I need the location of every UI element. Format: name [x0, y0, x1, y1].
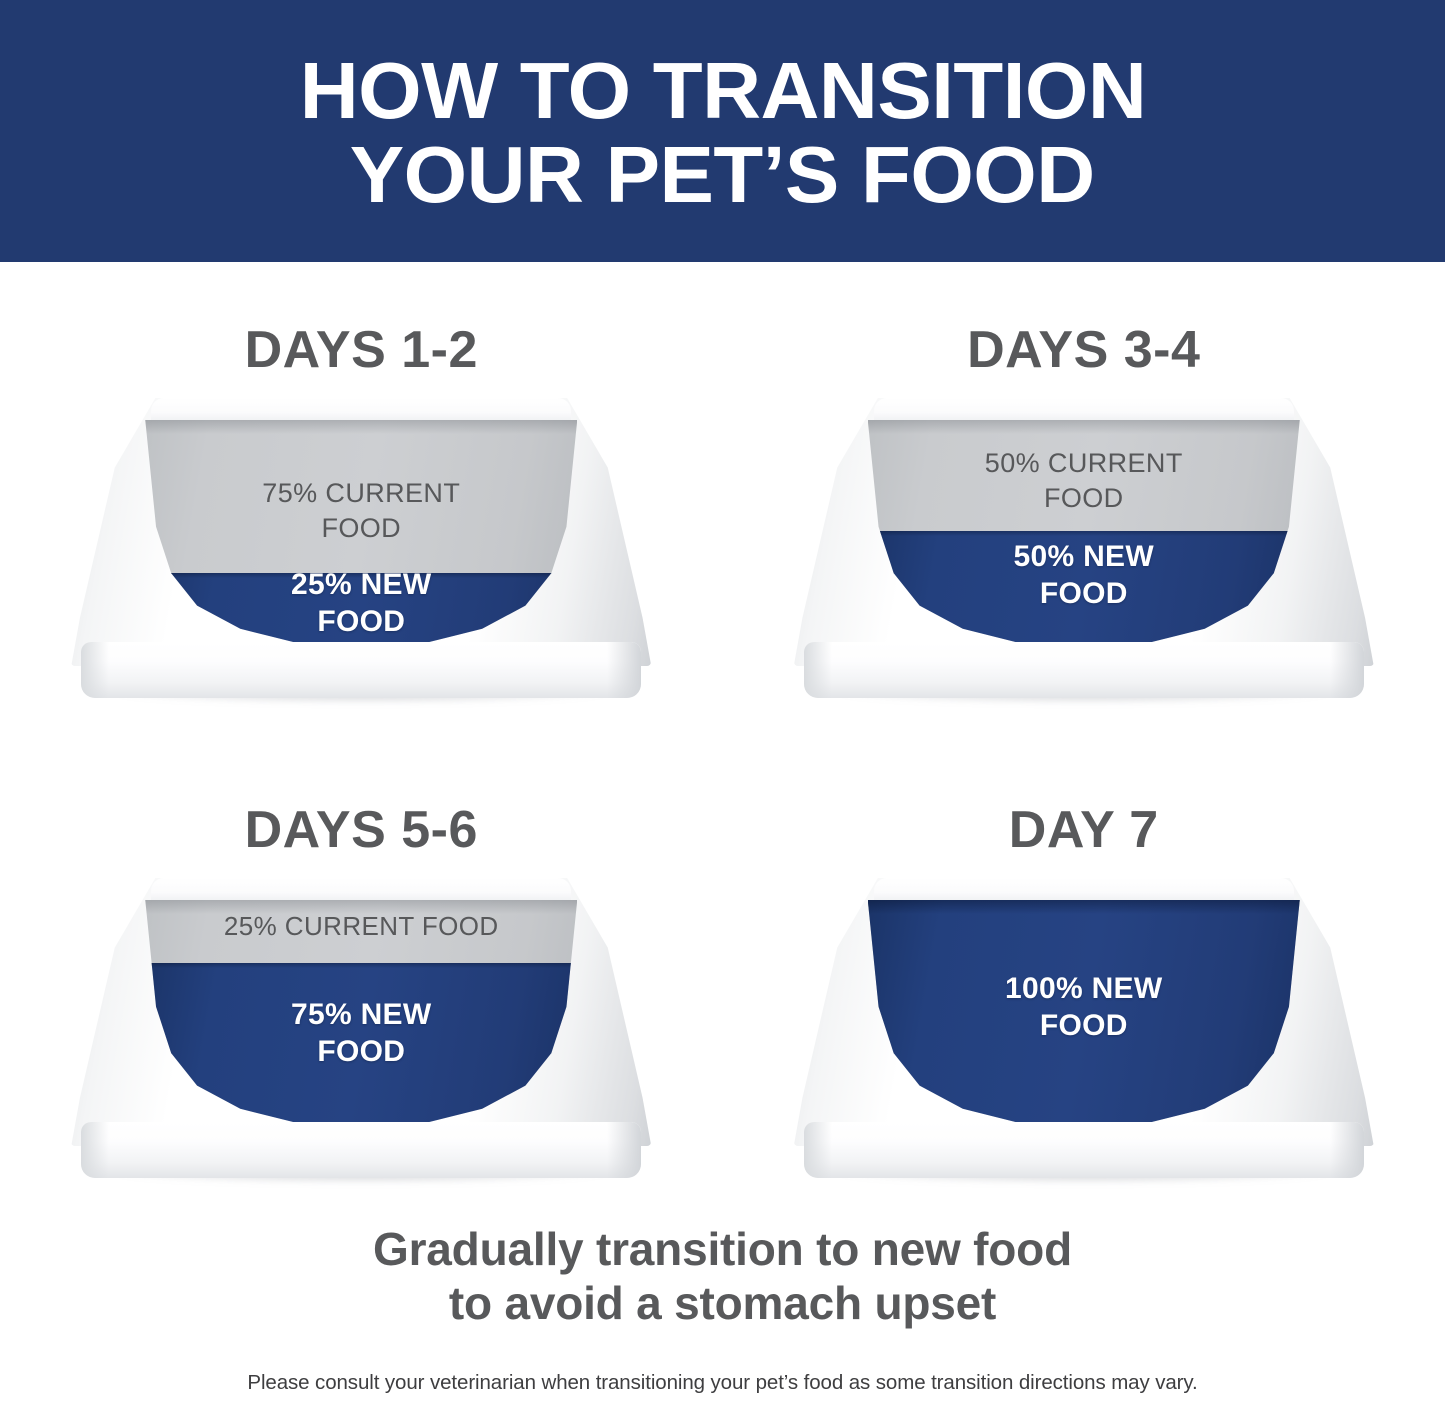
header-title-line-1: HOW TO TRANSITION [299, 52, 1146, 130]
transition-steps-grid: DAYS 1-2 75% CURRENT FOOD 25% NEW FOOD D… [0, 262, 1445, 1222]
step-card-days-1-2: DAYS 1-2 75% CURRENT FOOD 25% NEW FOOD [0, 262, 723, 742]
step-card-days-3-4: DAYS 3-4 50% CURRENT FOOD 50% NEW FOOD [723, 262, 1445, 742]
current-food-label-3: 25% CURRENT FOOD [71, 910, 651, 943]
current-food-label-2: 50% CURRENT FOOD [794, 446, 1374, 515]
new-food-label-2: 50% NEW FOOD [794, 538, 1374, 612]
header-banner: HOW TO TRANSITION YOUR PET’S FOOD [0, 0, 1445, 262]
current-food-label-1: 75% CURRENT FOOD [71, 476, 651, 545]
day-label-3: DAYS 5-6 [245, 800, 478, 860]
tagline-text: Gradually transition to new food to avoi… [373, 1222, 1072, 1331]
pet-bowl-illustration-2: 50% CURRENT FOOD 50% NEW FOOD [794, 398, 1374, 698]
day-label-4: DAY 7 [1009, 800, 1159, 860]
bowl-base-foot [81, 642, 641, 698]
step-card-days-5-6: DAYS 5-6 25% CURRENT FOOD 75% NEW FOOD [0, 742, 723, 1222]
bowl-base-foot [804, 1122, 1364, 1178]
step-card-day-7: DAY 7 100% NEW FOOD [723, 742, 1445, 1222]
infographic-page: HOW TO TRANSITION YOUR PET’S FOOD DAYS 1… [0, 0, 1445, 1407]
day-label-2: DAYS 3-4 [967, 320, 1200, 380]
header-title-line-2: YOUR PET’S FOOD [350, 136, 1095, 214]
bowl-base-foot [81, 1122, 641, 1178]
day-label-1: DAYS 1-2 [245, 320, 478, 380]
disclaimer-text: Please consult your veterinarian when tr… [247, 1371, 1197, 1395]
pet-bowl-illustration-3: 25% CURRENT FOOD 75% NEW FOOD [71, 878, 651, 1178]
footer: Gradually transition to new food to avoi… [0, 1222, 1445, 1395]
bowl-base-foot [804, 642, 1364, 698]
new-food-label-1: 25% NEW FOOD [71, 566, 651, 640]
pet-bowl-illustration-4: 100% NEW FOOD [794, 878, 1374, 1178]
new-food-label-3: 75% NEW FOOD [71, 996, 651, 1070]
pet-bowl-illustration-1: 75% CURRENT FOOD 25% NEW FOOD [71, 398, 651, 698]
new-food-label-4: 100% NEW FOOD [794, 970, 1374, 1044]
